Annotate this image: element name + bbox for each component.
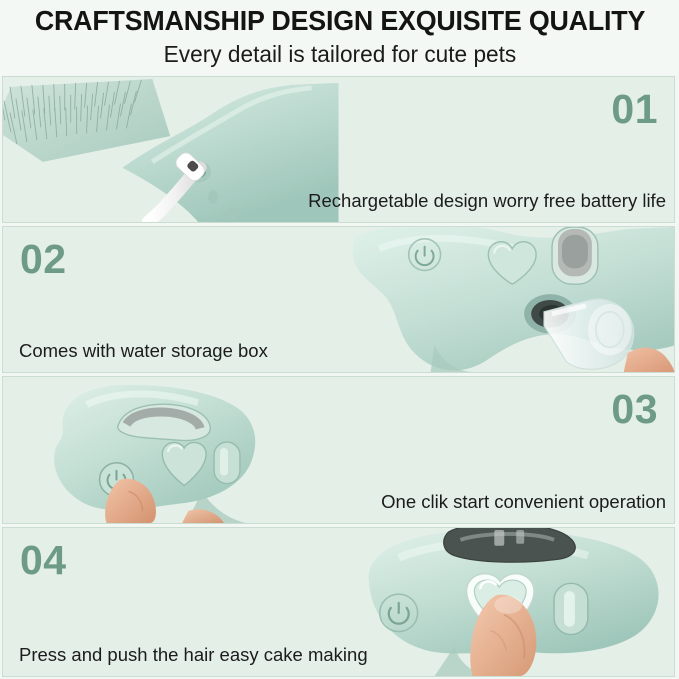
feature-panel-01: 01 Rechargetable design worry free batte… bbox=[2, 76, 675, 223]
product-illustration-heart-press bbox=[339, 528, 675, 676]
panel-caption-03: One clik start convenient operation bbox=[381, 491, 666, 513]
panel-number-02: 02 bbox=[20, 239, 67, 280]
page-title: CRAFTSMANSHIP DESIGN EXQUISITE QUALITY bbox=[34, 4, 644, 38]
panel-caption-04: Press and push the hair easy cake making bbox=[19, 644, 368, 666]
panel-caption-01: Rechargetable design worry free battery … bbox=[308, 190, 666, 212]
panel-number-04: 04 bbox=[20, 540, 67, 581]
product-photo-02 bbox=[339, 227, 675, 372]
product-illustration-power-press bbox=[3, 377, 339, 523]
feature-panel-03: 03 One clik start convenient operation bbox=[2, 376, 675, 524]
product-illustration-water-bottle bbox=[339, 227, 675, 372]
page-subtitle: Every detail is tailored for cute pets bbox=[163, 39, 516, 69]
product-illustration-brush-usb bbox=[3, 77, 339, 222]
feature-panel-02: 02 Comes with water storage box bbox=[2, 226, 675, 373]
infographic-page: CRAFTSMANSHIP DESIGN EXQUISITE QUALITY E… bbox=[0, 0, 679, 679]
header: CRAFTSMANSHIP DESIGN EXQUISITE QUALITY E… bbox=[0, 0, 679, 75]
product-photo-01 bbox=[3, 77, 339, 222]
panel-number-01: 01 bbox=[611, 89, 658, 130]
panel-caption-02: Comes with water storage box bbox=[19, 340, 268, 362]
panel-number-03: 03 bbox=[611, 389, 658, 430]
product-photo-03 bbox=[3, 377, 339, 523]
product-photo-04 bbox=[339, 528, 675, 676]
feature-panel-04: 04 Press and push the hair easy cake mak… bbox=[2, 527, 675, 677]
